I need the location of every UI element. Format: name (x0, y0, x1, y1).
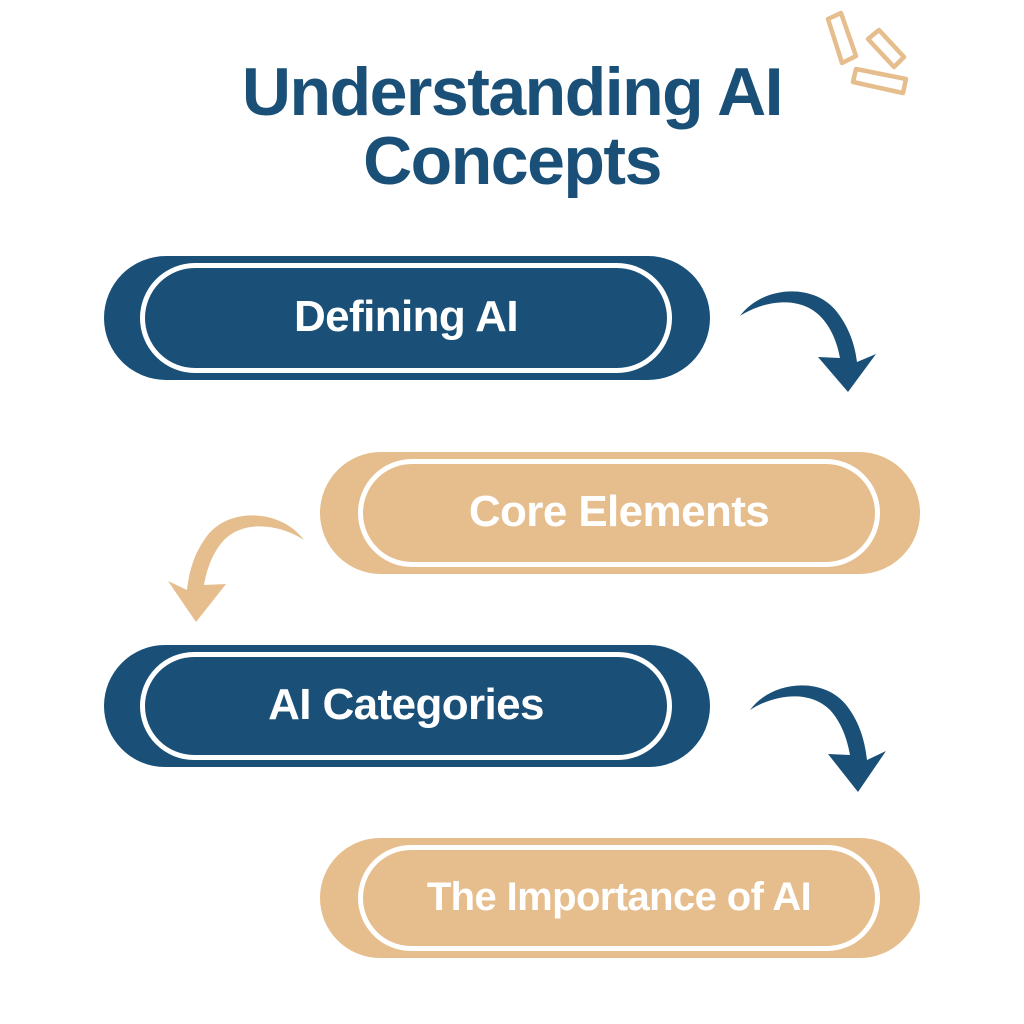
flow-step-3-label: AI Categories (268, 683, 544, 727)
flow-step-importance-of-ai[interactable]: The Importance of AI (320, 838, 920, 958)
curved-arrow-down-right-icon (736, 284, 886, 394)
infographic-canvas: Understanding AI Concepts Defining AI Co… (0, 0, 1024, 1024)
flow-step-ai-categories[interactable]: AI Categories (104, 645, 710, 767)
flow-step-4-inner-outline: The Importance of AI (358, 845, 880, 951)
page-title-text: Understanding AI Concepts (150, 58, 874, 197)
curved-arrow-down-right-icon (746, 676, 896, 794)
flow-step-core-elements[interactable]: Core Elements (320, 452, 920, 574)
flow-step-1-label: Defining AI (294, 295, 518, 339)
page-title: Understanding AI Concepts (0, 58, 1024, 197)
flow-step-4-label: The Importance of AI (427, 877, 811, 917)
flow-step-2-label: Core Elements (469, 490, 769, 534)
flow-step-defining-ai[interactable]: Defining AI (104, 256, 710, 380)
flow-step-3-inner-outline: AI Categories (140, 652, 672, 760)
curved-arrow-down-left-icon (158, 506, 308, 624)
flow-step-2-inner-outline: Core Elements (358, 459, 880, 567)
flow-step-1-inner-outline: Defining AI (140, 263, 672, 373)
